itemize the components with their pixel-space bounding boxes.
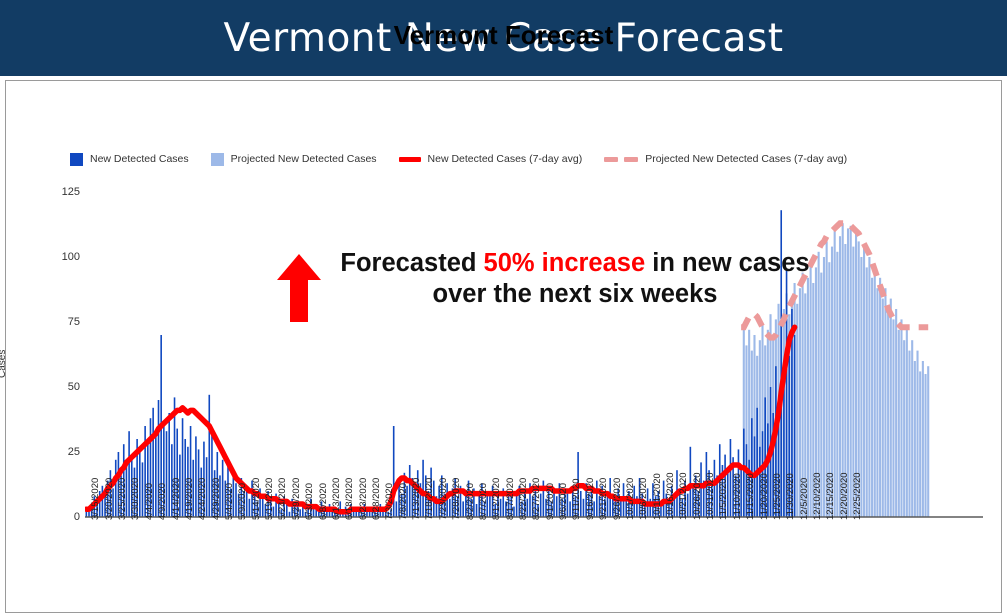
up-arrow-icon (275, 252, 323, 324)
x-axis-tick: 12/20/2020 (839, 472, 850, 520)
y-axis-tick: 25 (40, 446, 80, 458)
y-axis-tick: 75 (40, 316, 80, 328)
chart-bar (895, 309, 897, 517)
x-axis: 3/15/20203/20/20203/25/20203/30/20204/4/… (85, 520, 983, 612)
chart-bar (730, 439, 732, 517)
legend-dashed-line-icon (604, 157, 638, 162)
x-axis-tick: 4/24/2020 (197, 478, 208, 520)
legend-item-projected-new-detected-cases-7day: Projected New Detected Cases (7-day avg) (604, 153, 847, 165)
x-axis-tick: 6/28/2020 (371, 478, 382, 520)
legend-label: Projected New Detected Cases (7-day avg) (645, 153, 847, 165)
legend-item-projected-new-detected-cases: Projected New Detected Cases (211, 153, 377, 166)
y-axis: 0255075100125 (36, 190, 80, 518)
x-axis-tick: 6/3/2020 (304, 483, 315, 520)
y-axis-tick: 50 (40, 381, 80, 393)
x-axis-tick: 10/6/2020 (638, 478, 649, 520)
x-axis-tick: 9/26/2020 (612, 478, 623, 520)
x-axis-tick: 8/2/2020 (465, 483, 476, 520)
chart-bar (882, 299, 884, 517)
x-axis-tick: 4/4/2020 (144, 483, 155, 520)
chart-bar (756, 408, 758, 517)
x-axis-tick: 3/15/2020 (90, 478, 101, 520)
x-axis-tick: 9/16/2020 (585, 478, 596, 520)
chart-bar (396, 501, 398, 517)
x-axis-tick: 6/18/2020 (344, 478, 355, 520)
chart-legend: New Detected Cases Projected New Detecte… (70, 150, 970, 168)
x-axis-tick: 10/31/2020 (705, 472, 716, 520)
chart-bar (903, 340, 905, 517)
chart-bar (868, 257, 870, 517)
x-axis-tick: 7/18/2020 (424, 478, 435, 520)
chart-bar (906, 330, 908, 517)
chart-bar (916, 351, 918, 517)
legend-label: Projected New Detected Cases (231, 153, 377, 165)
x-axis-tick: 7/28/2020 (451, 478, 462, 520)
chart-bar (887, 309, 889, 517)
chart-canvas (85, 190, 983, 518)
legend-swatch-icon (211, 153, 224, 166)
slide: Vermont New Case Forecast Vermont Foreca… (0, 0, 1007, 616)
x-axis-tick: 11/30/2020 (785, 473, 796, 520)
x-axis-tick: 3/25/2020 (117, 478, 128, 520)
x-axis-tick: 3/20/2020 (104, 478, 115, 520)
x-axis-tick: 8/27/2020 (531, 478, 542, 520)
chart-bar (796, 304, 798, 517)
forecast-annotation-text: Forecasted 50% increase in new cases ove… (340, 248, 810, 310)
x-axis-tick: 4/14/2020 (171, 478, 182, 520)
legend-line-icon (399, 157, 421, 162)
x-axis-tick: 8/17/2020 (505, 478, 516, 520)
chart-bar (884, 288, 886, 517)
chart-bar (874, 267, 876, 517)
chart-plot-area (85, 190, 983, 518)
x-axis-tick: 4/9/2020 (157, 483, 168, 520)
x-axis-tick: 5/19/2020 (264, 478, 275, 520)
chart-bar (208, 395, 210, 517)
x-axis-tick: 7/23/2020 (438, 478, 449, 520)
x-axis-tick: 9/6/2020 (558, 483, 569, 520)
x-axis-tick: 9/1/2020 (545, 483, 556, 520)
x-axis-tick: 7/8/2020 (398, 483, 409, 520)
chart-bar (583, 499, 585, 517)
chart-bar (249, 499, 251, 517)
x-axis-tick: 5/14/2020 (251, 478, 262, 520)
x-axis-tick: 9/11/2020 (571, 478, 582, 520)
x-axis-tick: 6/23/2020 (358, 478, 369, 520)
y-axis-label: Cases (0, 350, 8, 378)
chart-bar (168, 413, 170, 517)
chart-bar (911, 340, 913, 517)
chart-bar (892, 319, 894, 517)
x-axis-tick: 5/4/2020 (224, 483, 235, 520)
x-axis-tick: 5/24/2020 (277, 478, 288, 520)
x-axis-tick: 9/21/2020 (598, 478, 609, 520)
chart-bar (863, 247, 865, 517)
x-axis-tick: 11/20/2020 (759, 473, 770, 520)
chart-bar (900, 319, 902, 517)
x-axis-tick: 10/16/2020 (665, 472, 676, 520)
chart-bar (876, 288, 878, 517)
x-axis-tick: 7/13/2020 (411, 478, 422, 520)
x-axis-tick: 10/26/2020 (692, 472, 703, 520)
chart-bar (879, 278, 881, 517)
x-axis-tick: 12/15/2020 (825, 472, 836, 520)
chart-bar (890, 299, 892, 517)
x-axis-tick: 11/25/2020 (772, 473, 783, 520)
x-axis-tick: 4/19/2020 (184, 478, 195, 520)
x-axis-tick: 8/12/2020 (491, 478, 502, 520)
x-axis-tick: 8/22/2020 (518, 478, 529, 520)
chart-title: Vermont Forecast (0, 20, 1007, 51)
chart-bar (924, 374, 926, 517)
legend-label: New Detected Cases (90, 153, 189, 165)
x-axis-tick: 12/5/2020 (799, 478, 810, 520)
chart-bar (102, 486, 104, 517)
y-axis-tick: 0 (40, 511, 80, 523)
chart-bar (914, 361, 916, 517)
chart-bar (898, 330, 900, 517)
x-axis-tick: 10/21/2020 (678, 472, 689, 520)
x-axis-tick: 11/5/2020 (718, 478, 729, 520)
legend-item-new-detected-cases-7day: New Detected Cases (7-day avg) (399, 153, 583, 165)
x-axis-tick: 5/9/2020 (237, 483, 248, 520)
x-axis-tick: 4/29/2020 (211, 478, 222, 520)
x-axis-tick: 6/13/2020 (331, 478, 342, 520)
chart-bar (908, 351, 910, 517)
x-axis-tick: 5/29/2020 (291, 478, 302, 520)
annotation-highlight: 50% increase (484, 249, 646, 277)
chart-bar (871, 278, 873, 517)
chart-bar (922, 361, 924, 517)
x-axis-tick: 11/10/2020 (732, 473, 743, 520)
legend-swatch-icon (70, 153, 83, 166)
chart-bar (462, 501, 464, 517)
x-axis-tick: 11/15/2020 (745, 473, 756, 520)
x-axis-tick: 8/7/2020 (478, 483, 489, 520)
x-axis-tick: 12/25/2020 (852, 472, 863, 520)
chart-bar (919, 371, 921, 517)
chart-bar (866, 267, 868, 517)
annotation-text-before: Forecasted (340, 249, 483, 277)
y-axis-tick: 125 (40, 186, 80, 198)
x-axis-tick: 3/30/2020 (130, 478, 141, 520)
x-axis-tick: 7/3/2020 (384, 483, 395, 520)
x-axis-tick: 6/8/2020 (318, 483, 329, 520)
x-axis-tick: 12/10/2020 (812, 472, 823, 520)
legend-item-new-detected-cases: New Detected Cases (70, 153, 189, 166)
y-axis-tick: 100 (40, 251, 80, 263)
chart-bar (927, 366, 929, 517)
x-axis-tick: 10/1/2020 (625, 478, 636, 520)
chart-bar (690, 447, 692, 517)
x-axis-tick: 10/11/2020 (652, 473, 663, 520)
legend-label: New Detected Cases (7-day avg) (428, 153, 583, 165)
